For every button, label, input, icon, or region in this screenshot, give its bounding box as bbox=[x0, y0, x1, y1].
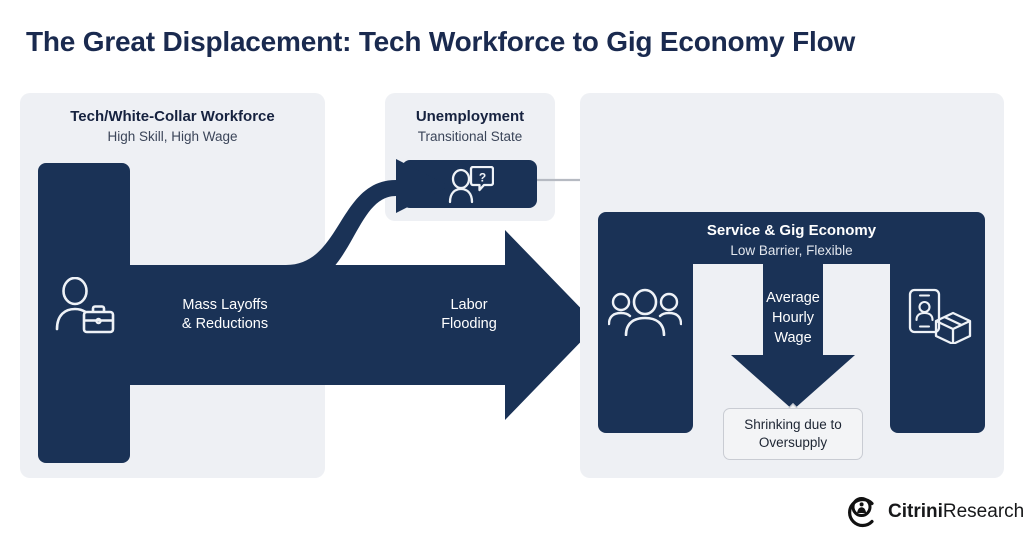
panel-right-title: Service & Gig Economy bbox=[598, 222, 985, 239]
svg-text:?: ? bbox=[479, 171, 486, 185]
label-mass-layoffs-line2: & Reductions bbox=[160, 315, 290, 334]
diagram-canvas: The Great Displacement: Tech Workforce t… bbox=[0, 0, 1024, 541]
citrini-monogram-icon bbox=[845, 494, 879, 530]
label-labor-flooding-line1: Labor bbox=[408, 296, 530, 315]
label-wage-line3: Wage bbox=[748, 328, 838, 348]
panel-unemployment-subtitle: Transitional State bbox=[385, 129, 555, 144]
callout-shrinking-oversupply: Shrinking due to Oversupply bbox=[723, 408, 863, 460]
label-average-hourly-wage: Average Hourly Wage bbox=[748, 288, 838, 348]
page-title: The Great Displacement: Tech Workforce t… bbox=[26, 26, 855, 58]
label-labor-flooding-line2: Flooding bbox=[408, 315, 530, 334]
gig-economy-right-column bbox=[890, 258, 985, 433]
label-wage-line2: Hourly bbox=[748, 308, 838, 328]
group-users-icon bbox=[608, 288, 682, 336]
label-mass-layoffs: Mass Layoffs & Reductions bbox=[160, 296, 290, 334]
label-mass-layoffs-line1: Mass Layoffs bbox=[160, 296, 290, 315]
person-question-icon: ? bbox=[448, 166, 494, 204]
gig-economy-left-column bbox=[598, 258, 693, 433]
callout-line2: Oversupply bbox=[744, 434, 842, 452]
panel-unemployment-title: Unemployment bbox=[385, 108, 555, 125]
label-labor-flooding: Labor Flooding bbox=[408, 296, 530, 334]
person-briefcase-icon bbox=[54, 277, 116, 335]
phone-package-icon bbox=[908, 288, 972, 344]
panel-left-subtitle: High Skill, High Wage bbox=[20, 129, 325, 144]
brand-logo-text: CitriniResearch bbox=[888, 501, 1024, 523]
brand-name-regular: Research bbox=[943, 501, 1024, 522]
callout-line1: Shrinking due to bbox=[744, 416, 842, 434]
brand-name-bold: Citrini bbox=[888, 501, 943, 522]
panel-left-title: Tech/White-Collar Workforce bbox=[20, 108, 325, 125]
label-wage-line1: Average bbox=[748, 288, 838, 308]
panel-right-subtitle: Low Barrier, Flexible bbox=[598, 243, 985, 258]
brand-logo: CitriniResearch bbox=[845, 494, 1024, 530]
